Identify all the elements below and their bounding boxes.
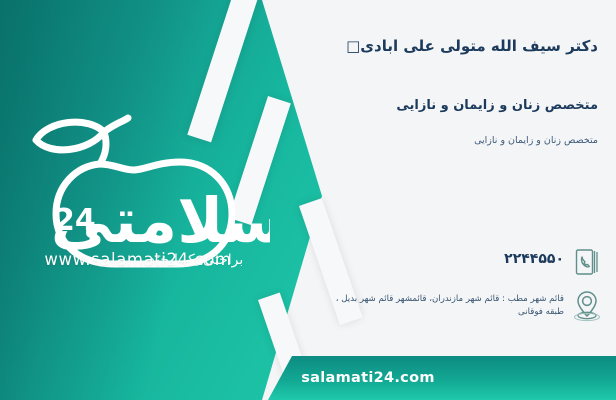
location-pin-icon	[572, 290, 602, 324]
doctor-specialty-secondary: متخصص زنان و زایمان و نازایی	[328, 134, 598, 148]
phone-book-icon	[572, 248, 602, 282]
missing-glyph-box: □	[346, 37, 360, 55]
doctor-business-card: سلامتی 24 براحتی یک لبخند www.salamati24…	[0, 0, 616, 400]
phone-row[interactable]: ۲۲۴۴۵۵۰	[326, 248, 602, 282]
doctor-name-text: دکتر سیف الله متولی علی ابادی	[360, 37, 598, 55]
phone-number: ۲۲۴۴۵۵۰	[326, 248, 564, 267]
logo-number-24: 24	[54, 203, 96, 238]
address-row[interactable]: قائم شهر مطب : قائم شهر مازندران، قائمشه…	[320, 290, 602, 324]
footer-website[interactable]: salamati24.com	[301, 370, 435, 386]
doctor-info-column: دکتر سیف الله متولی علی ابادی□ متخصص زنا…	[316, 0, 616, 400]
doctor-specialty-primary: متخصص زنان و زایمان و نازایی	[328, 96, 598, 116]
doctor-name: دکتر سیف الله متولی علی ابادی□	[328, 36, 598, 58]
clinic-address: قائم شهر مطب : قائم شهر مازندران، قائمشه…	[320, 290, 564, 320]
logo-website-url: www.salamati24.com	[18, 250, 258, 269]
